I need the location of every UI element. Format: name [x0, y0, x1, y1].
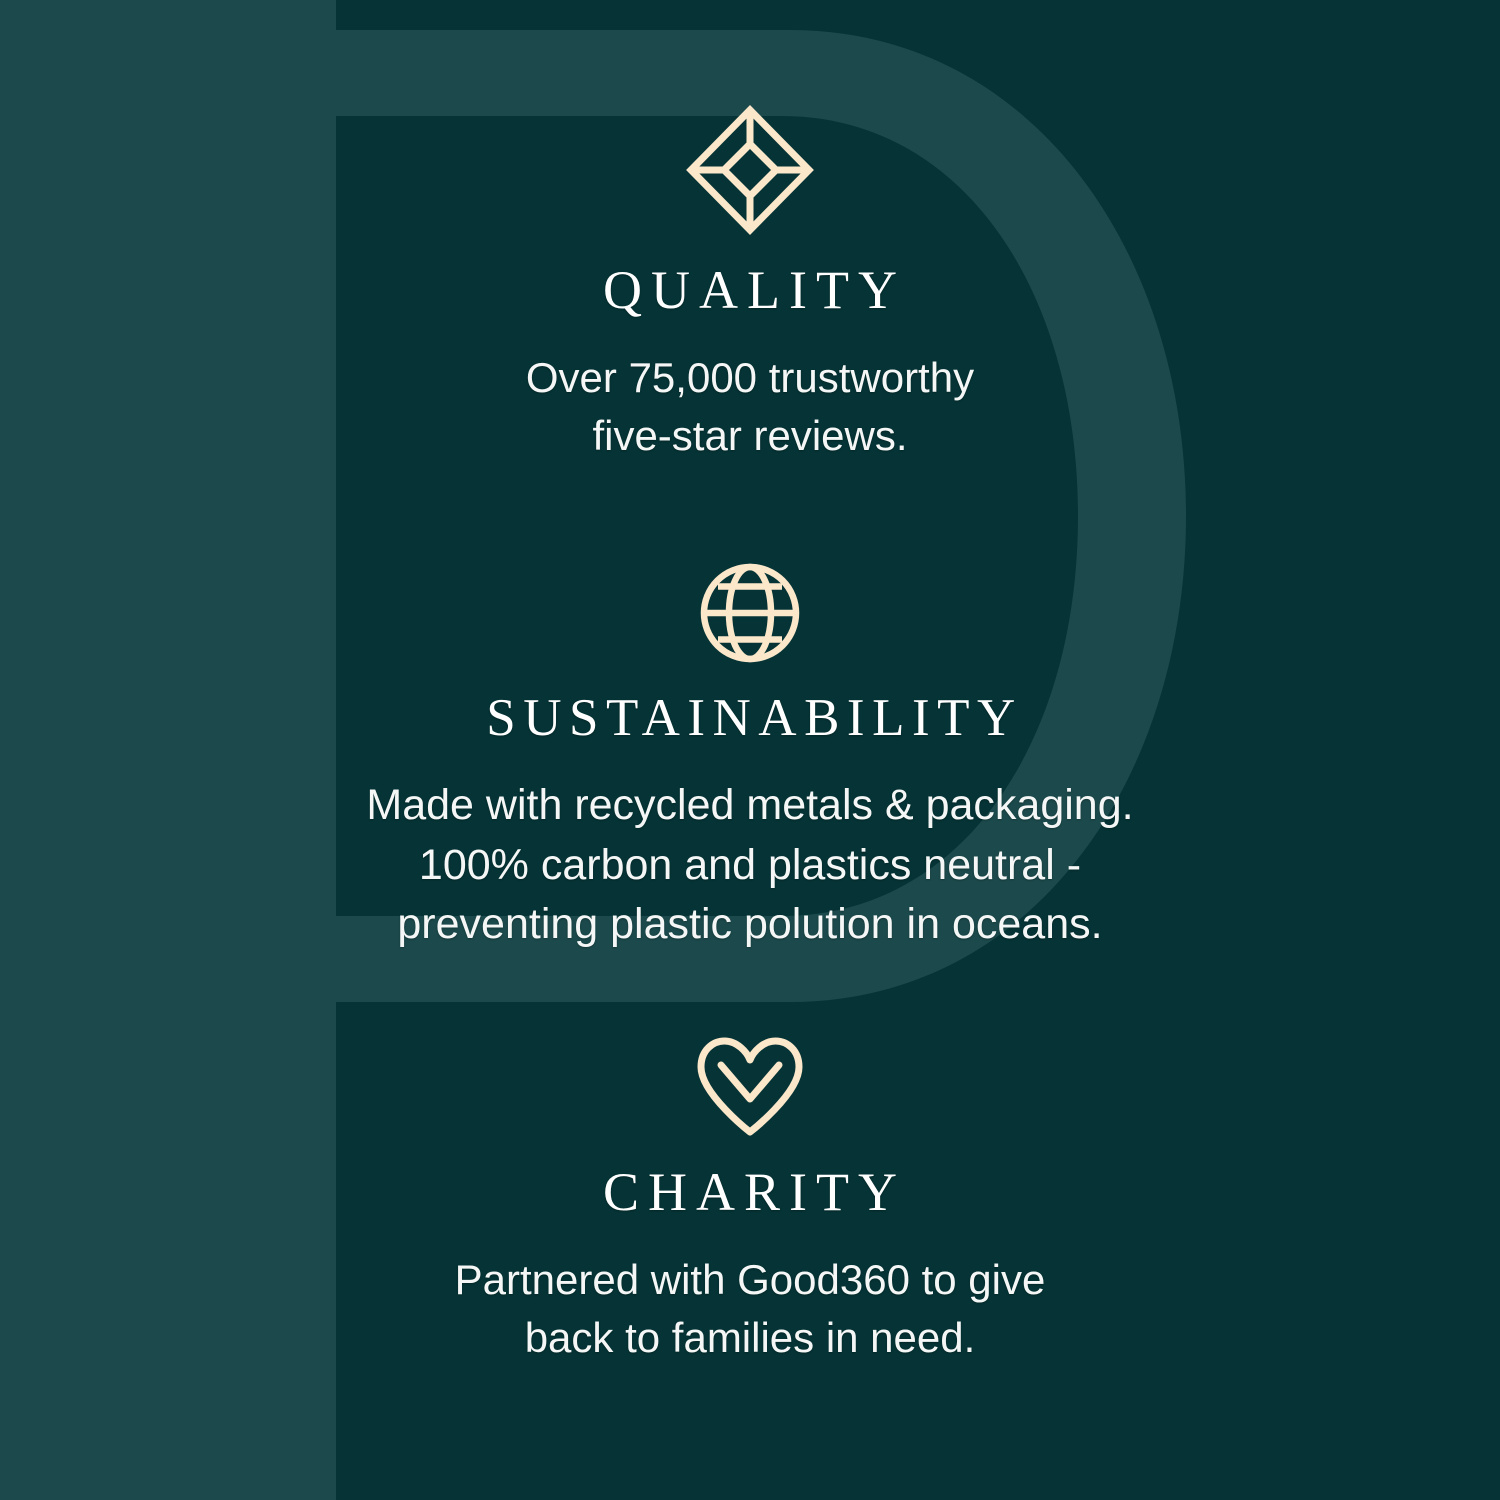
body-line: Partnered with Good360 to give: [455, 1251, 1046, 1309]
body-line: five-star reviews.: [526, 407, 974, 465]
value-section-charity: CHARITY Partnered with Good360 to give b…: [0, 1036, 1500, 1367]
body-line: preventing plastic polution in oceans.: [366, 895, 1133, 954]
section-body-charity: Partnered with Good360 to give back to f…: [455, 1251, 1046, 1367]
globe-icon: [698, 561, 802, 665]
section-heading-charity: CHARITY: [594, 1164, 906, 1221]
heart-icon: [695, 1036, 805, 1138]
value-section-sustainability: SUSTAINABILITY Made with recycled metals…: [0, 561, 1500, 955]
body-line: Over 75,000 trustworthy: [526, 349, 974, 407]
body-line: Made with recycled metals & packaging.: [366, 776, 1133, 835]
diamond-icon: [685, 104, 815, 236]
section-body-sustainability: Made with recycled metals & packaging. 1…: [366, 776, 1133, 954]
section-heading-sustainability: SUSTAINABILITY: [477, 691, 1023, 747]
body-line: back to families in need.: [455, 1309, 1046, 1367]
body-line: 100% carbon and plastics neutral -: [366, 836, 1133, 895]
brand-values-panel: QUALITY Over 75,000 trustworthy five-sta…: [0, 0, 1500, 1500]
value-section-quality: QUALITY Over 75,000 trustworthy five-sta…: [0, 104, 1500, 465]
values-content: QUALITY Over 75,000 trustworthy five-sta…: [0, 0, 1500, 1500]
section-heading-quality: QUALITY: [594, 262, 906, 319]
section-body-quality: Over 75,000 trustworthy five-star review…: [526, 349, 974, 465]
